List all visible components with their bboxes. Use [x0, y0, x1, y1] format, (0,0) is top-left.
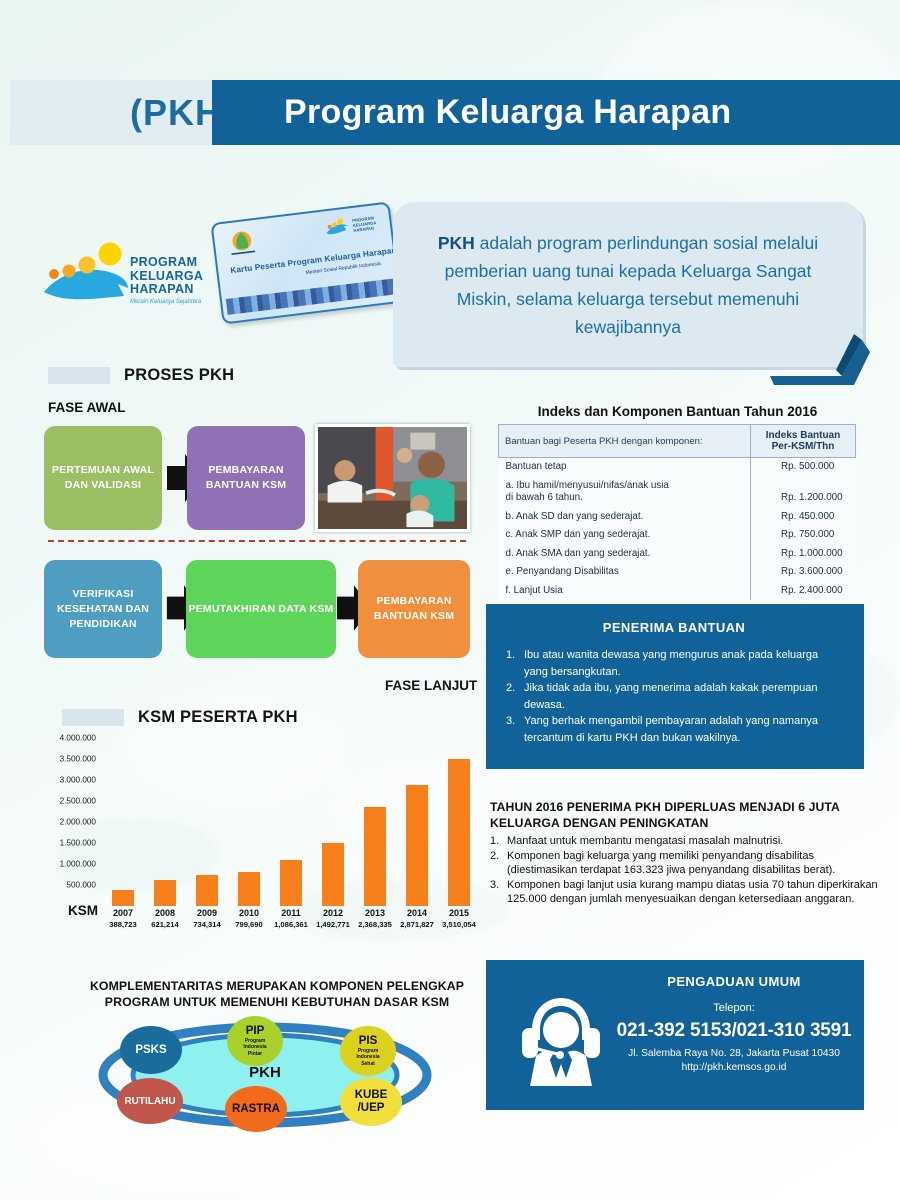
- penyaluran-photo: [315, 424, 470, 532]
- komplementaritas-diagram: PKH PSKS PIP Program Indonesia Pintar PI…: [95, 1020, 435, 1130]
- fase-awal-label: FASE AWAL: [48, 400, 126, 415]
- chart-x-year: 2009: [186, 908, 228, 918]
- venn-center-label: PKH: [215, 1064, 315, 1081]
- table-row: e. Penyandang Disabilitas Rp. 3.600.000: [499, 563, 856, 582]
- table-cell-component: d. Anak SMA dan yang sederajat.: [499, 545, 751, 564]
- table-cell-amount: Rp. 3.600.000: [751, 563, 856, 582]
- logo-line-3: HARAPAN: [130, 283, 203, 297]
- venn-node-label: PIP: [246, 1025, 265, 1037]
- table-row: b. Anak SD dan yang sederajat. Rp. 450.0…: [499, 508, 856, 527]
- pkh-logo-text: PROGRAM KELUARGA HARAPAN: [130, 256, 203, 297]
- section-chip: [62, 709, 124, 726]
- chart-x-value: 1,492,771: [312, 920, 354, 929]
- table-cell-component: Bantuan tetap: [499, 458, 751, 477]
- chart-x-year: 2011: [270, 908, 312, 918]
- chart-x-value: 3,510,054: [438, 920, 480, 929]
- list-item: Ibu atau wanita dewasa yang mengurus ana…: [504, 647, 844, 680]
- contact-title: PENGADUAN UMUM: [614, 974, 854, 989]
- pkh-logo: PROGRAM KELUARGA HARAPAN Meraih Keluarga…: [40, 232, 215, 327]
- chart-y-tick: 2.000.000: [60, 818, 96, 827]
- ribbon-decoration-icon: [770, 330, 870, 385]
- chart-x-value: 621,214: [144, 920, 186, 929]
- infographic-page: (PKH) Program Keluarga Harapan PROGRAM K…: [0, 0, 900, 1200]
- chart-x-value: 734,314: [186, 920, 228, 929]
- chart-bar: [112, 890, 134, 906]
- penerima-list: Ibu atau wanita dewasa yang mengurus ana…: [504, 647, 844, 746]
- contact-phone-number[interactable]: 021-392 5153/021-310 3591: [614, 1020, 854, 1042]
- headset-operator-icon: [514, 986, 609, 1086]
- fase-lanjut-label: FASE LANJUT: [385, 678, 477, 693]
- table-row: Bantuan tetap Rp. 500.000: [499, 458, 856, 477]
- pengaduan-umum-box: PENGADUAN UMUM Telepon: 021-392 5153/021…: [486, 960, 864, 1110]
- flow-step-pembayaran-bantuan-ksm-lanjut[interactable]: PEMBAYARAN BANTUAN KSM: [358, 560, 470, 658]
- table-row: f. Lanjut Usia Rp. 2.400.000: [499, 582, 856, 601]
- contact-address: Jl. Salemba Raya No. 28, Jakarta Pusat 1…: [614, 1048, 854, 1059]
- chart-x-tick: 20142,871,827: [396, 908, 438, 929]
- chart-x-tick: 2008621,214: [144, 908, 186, 929]
- chart-bar: [154, 880, 176, 906]
- chart-y-axis: 4.000.0003.500.0003.000.0002.500.0002.00…: [30, 738, 100, 906]
- flow-step-pembayaran-bantuan-ksm-awal[interactable]: PEMBAYARAN BANTUAN KSM: [187, 426, 305, 530]
- table-row: c. Anak SMP dan yang sederajat. Rp. 750.…: [499, 526, 856, 545]
- section-chip: [48, 367, 110, 384]
- pkh-card: PROGRAM KELUARGA HARAPAN Kartu Peserta P…: [210, 201, 401, 324]
- venn-node-sub: Program Indonesia Sehat: [356, 1048, 379, 1068]
- header-title-bar: Program Keluarga Harapan: [212, 80, 900, 145]
- page-header: (PKH) Program Keluarga Harapan: [0, 80, 900, 145]
- proses-title: PROSES PKH: [124, 366, 234, 384]
- card-bottom-strip: [226, 278, 399, 315]
- table-cell-amount: Rp. 2.400.000: [751, 582, 856, 601]
- logo-tagline: Meraih Keluarga Sejahtera: [130, 299, 201, 305]
- chart-y-tick: 4.000.000: [60, 734, 96, 743]
- chart-x-value: 2,871,827: [396, 920, 438, 929]
- chart-bar: [196, 875, 218, 906]
- venn-node-label: KUBE /UEP: [355, 1089, 388, 1115]
- chart-x-year: 2007: [102, 908, 144, 918]
- venn-node-label: RUTILAHU: [124, 1096, 175, 1107]
- tahun-2016-section: TAHUN 2016 PENERIMA PKH DIPERLUAS MENJAD…: [490, 800, 882, 907]
- table-cell-amount: Rp. 750.000: [751, 526, 856, 545]
- komplementaritas-title: KOMPLEMENTARITAS MERUPAKAN KOMPONEN PELE…: [82, 978, 472, 1010]
- contact-url[interactable]: http://pkh.kemsos.go.id: [614, 1062, 854, 1073]
- chart-x-year: 2012: [312, 908, 354, 918]
- table-header-row: Bantuan bagi Peserta PKH dengan komponen…: [499, 425, 856, 458]
- venn-node-rastra[interactable]: RASTRA: [225, 1086, 287, 1132]
- table-col-amount-line2: Per-KSM/Thn: [772, 441, 835, 452]
- chart-y-tick: 3.000.000: [60, 776, 96, 785]
- table-row: a. Ibu hamil/menyusui/nifas/anak usia di…: [499, 477, 856, 508]
- chart-title: KSM PESERTA PKH: [138, 708, 298, 726]
- chart-x-tick: 2007388,723: [102, 908, 144, 929]
- flow-step-label: VERIFIKASI KESEHATAN DAN PENDIDIKAN: [44, 587, 162, 632]
- indeks-bantuan-table: Bantuan bagi Peserta PKH dengan komponen…: [498, 424, 856, 600]
- table-cell-component: f. Lanjut Usia: [499, 582, 751, 601]
- chart-bar: [448, 759, 470, 906]
- chart-x-tick: 20153,510,054: [438, 908, 480, 929]
- proses-section-heading: PROSES PKH: [48, 366, 234, 385]
- flow-step-label: PEMUTAKHIRAN DATA KSM: [189, 602, 334, 617]
- table-body: Bantuan tetap Rp. 500.000 a. Ibu hamil/m…: [499, 458, 856, 601]
- table-col-amount-line1: Indeks Bantuan: [766, 430, 840, 441]
- tahun-2016-heading: TAHUN 2016 PENERIMA PKH DIPERLUAS MENJAD…: [490, 800, 882, 831]
- venn-node-kube-uep[interactable]: KUBE /UEP: [340, 1078, 402, 1126]
- chart-x-tick: 2009734,314: [186, 908, 228, 929]
- chart-x-value: 2,368,335: [354, 920, 396, 929]
- chart-x-year: 2013: [354, 908, 396, 918]
- chart-x-year: 2014: [396, 908, 438, 918]
- table-row: d. Anak SMA dan yang sederajat. Rp. 1.00…: [499, 545, 856, 564]
- venn-node-label: RASTRA: [232, 1103, 280, 1115]
- flow-step-label: PEMBAYARAN BANTUAN KSM: [358, 594, 470, 624]
- chart-x-year: 2015: [438, 908, 480, 918]
- card-pkh-logo-icon: PROGRAM KELUARGA HARAPAN: [323, 211, 383, 242]
- pkh-card-image: PROGRAM KELUARGA HARAPAN Kartu Peserta P…: [210, 200, 405, 328]
- table-title: Indeks dan Komponen Bantuan Tahun 2016: [490, 404, 865, 419]
- venn-node-label: PSKS: [135, 1044, 166, 1056]
- logo-line-2: KELUARGA: [130, 270, 203, 284]
- flow-step-label: PERTEMUAN AWAL DAN VALIDASI: [44, 463, 162, 493]
- table-col-component: Bantuan bagi Peserta PKH dengan komponen…: [499, 425, 751, 458]
- chart-x-value: 799,690: [228, 920, 270, 929]
- chart-y-tick: 1.500.000: [60, 839, 96, 848]
- penerima-bantuan-box: PENERIMA BANTUAN Ibu atau wanita dewasa …: [486, 604, 864, 769]
- chart-x-axis: 2007388,7232008621,2142009734,3142010799…: [102, 908, 480, 940]
- pkh-definition-lead: PKH: [438, 233, 475, 253]
- svg-text:HARAPAN: HARAPAN: [353, 225, 374, 232]
- chart-x-tick: 20111,086,361: [270, 908, 312, 929]
- chart-bar: [406, 785, 428, 906]
- tahun-2016-list: Manfaat untuk membantu mengatasi masalah…: [490, 834, 882, 907]
- venn-node-psks[interactable]: PSKS: [120, 1026, 182, 1074]
- list-item: Manfaat untuk membantu mengatasi masalah…: [490, 834, 882, 849]
- contact-phone-label: Telepon:: [614, 1002, 854, 1014]
- chart-x-tick: 2010799,690: [228, 908, 270, 929]
- chart-x-value: 388,723: [102, 920, 144, 929]
- list-item: Komponen bagi keluarga yang memiliki pen…: [490, 849, 882, 878]
- chart-bar: [364, 807, 386, 906]
- chart-x-year: 2008: [144, 908, 186, 918]
- ksm-peserta-chart: 4.000.0003.500.0003.000.0002.500.0002.00…: [30, 738, 480, 938]
- kemensos-logo-icon: [224, 228, 261, 258]
- list-item: Jika tidak ada ibu, yang menerima adalah…: [504, 680, 844, 713]
- flow-step-pertemuan-awal[interactable]: PERTEMUAN AWAL DAN VALIDASI: [44, 426, 162, 530]
- list-item: Yang berhak mengambil pembayaran adalah …: [504, 713, 844, 746]
- table-head: Bantuan bagi Peserta PKH dengan komponen…: [499, 425, 856, 458]
- chart-bar: [280, 860, 302, 906]
- contact-body: PENGADUAN UMUM Telepon: 021-392 5153/021…: [614, 974, 854, 1073]
- page-title: Program Keluarga Harapan: [284, 93, 731, 132]
- penerima-title: PENERIMA BANTUAN: [504, 620, 844, 635]
- flow-step-label: PEMBAYARAN BANTUAN KSM: [187, 463, 305, 493]
- chart-plot-area: [102, 738, 480, 906]
- venn-node-pip[interactable]: PIP Program Indonesia Pintar: [227, 1016, 283, 1066]
- chart-y-tick: 1.000.000: [60, 860, 96, 869]
- logo-line-1: PROGRAM: [130, 256, 203, 270]
- phase-divider: [48, 540, 466, 542]
- table-cell-amount: Rp. 500.000: [751, 458, 856, 477]
- table-cell-component: a. Ibu hamil/menyusui/nifas/anak usia di…: [499, 477, 751, 508]
- list-item: Komponen bagi lanjut usia kurang mampu d…: [490, 878, 882, 907]
- chart-y-tick: 3.500.000: [60, 755, 96, 764]
- pkh-definition-text: PKH adalah program perlindungan sosial m…: [418, 229, 838, 341]
- table-cell-component: e. Penyandang Disabilitas: [499, 563, 751, 582]
- table-cell-amount: Rp. 450.000: [751, 508, 856, 527]
- flow-step-verifikasi[interactable]: VERIFIKASI KESEHATAN DAN PENDIDIKAN: [44, 560, 162, 658]
- table-col-amount: Indeks Bantuan Per-KSM/Thn: [751, 425, 856, 458]
- venn-node-rutilahu[interactable]: RUTILAHU: [117, 1078, 183, 1124]
- chart-x-axis-label: KSM: [68, 903, 98, 918]
- venn-node-sub: Program Indonesia Pintar: [243, 1038, 266, 1058]
- chart-x-tick: 20132,368,335: [354, 908, 396, 929]
- chart-x-tick: 20121,492,771: [312, 908, 354, 929]
- photo-illustration: [318, 427, 467, 529]
- chart-bar: [238, 872, 260, 906]
- venn-node-label: PIS: [359, 1035, 378, 1047]
- pkh-definition-rest: adalah program perlindungan sosial melal…: [445, 233, 819, 337]
- flow-step-pemutakhiran-data[interactable]: PEMUTAKHIRAN DATA KSM: [186, 560, 336, 658]
- table-cell-amount: Rp. 1.200.000: [751, 477, 856, 508]
- chart-x-year: 2010: [228, 908, 270, 918]
- chart-bar: [322, 843, 344, 906]
- table-cell-component: c. Anak SMP dan yang sederajat.: [499, 526, 751, 545]
- table-cell-amount: Rp. 1.000.000: [751, 545, 856, 564]
- chart-heading: KSM PESERTA PKH: [62, 708, 298, 727]
- venn-node-pis[interactable]: PIS Program Indonesia Sehat: [340, 1026, 396, 1076]
- chart-x-value: 1,086,361: [270, 920, 312, 929]
- chart-y-tick: 500.000: [66, 881, 96, 890]
- chart-y-tick: 2.500.000: [60, 797, 96, 806]
- table-cell-component: b. Anak SD dan yang sederajat.: [499, 508, 751, 527]
